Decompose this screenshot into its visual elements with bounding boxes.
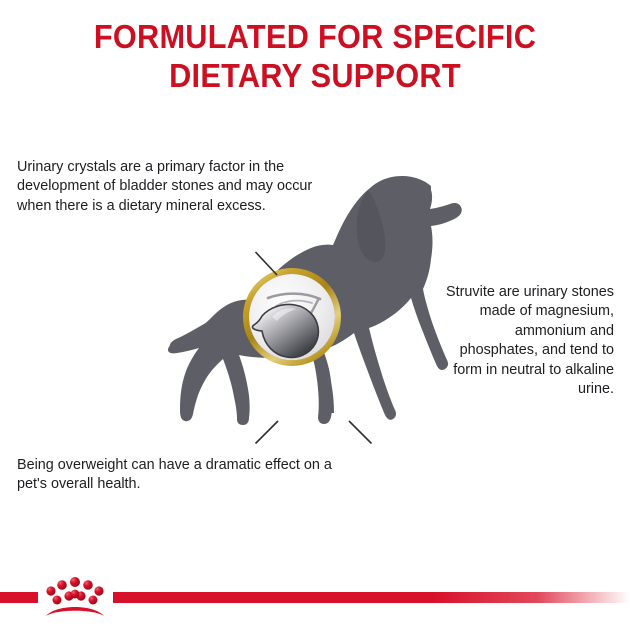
royal-canin-crown-logo [46,577,104,616]
brand-bar-left [0,592,38,603]
bladder-magnifier [246,271,338,363]
footer-brand-bar [0,560,630,630]
poster-root: FORMULATED FOR SPECIFIC DIETARY SUPPORT [0,0,630,630]
callout-text-top-left: Urinary crystals are a primary factor in… [17,158,327,216]
callout-text-bottom-left: Being overweight can have a dramatic eff… [17,456,347,495]
brand-bar-right [113,592,630,603]
callout-text-right: Struvite are urinary stones made of magn… [446,283,614,400]
